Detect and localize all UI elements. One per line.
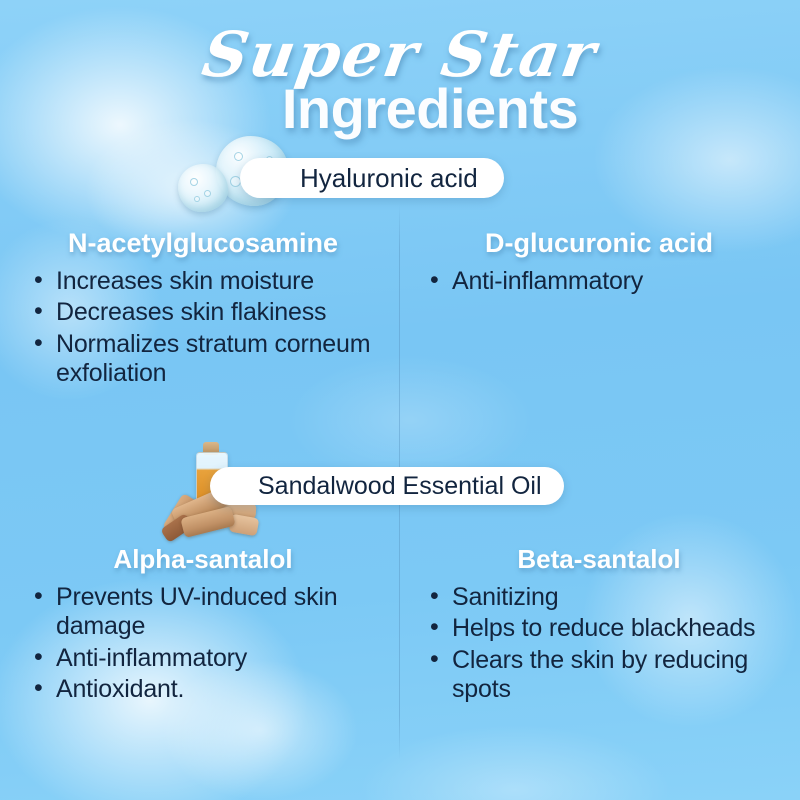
list-item: Antioxidant. [32, 675, 388, 704]
list-item: Anti-inflammatory [32, 644, 388, 673]
benefit-list: Anti-inflammatory [414, 267, 784, 296]
column-heading: D-glucuronic acid [414, 228, 784, 259]
column-beta-santalol: Beta-santalol Sanitizing Helps to reduce… [414, 544, 784, 706]
list-item: Normalizes stratum corneum exfoliation [32, 330, 388, 389]
benefit-list: Increases skin moisture Decreases skin f… [18, 267, 388, 388]
list-item: Clears the skin by reducing spots [428, 646, 784, 705]
list-item: Increases skin moisture [32, 267, 388, 296]
ingredient-badge-label: Hyaluronic acid [300, 163, 478, 194]
column-heading: Alpha-santalol [18, 544, 388, 575]
column-heading: Beta-santalol [414, 544, 784, 575]
column-n-acetylglucosamine: N-acetylglucosamine Increases skin moist… [18, 228, 388, 390]
list-item: Helps to reduce blackheads [428, 614, 784, 643]
ingredient-badge-hyaluronic-acid[interactable]: Hyaluronic acid [240, 158, 504, 198]
page-title: Ingredients [0, 76, 800, 141]
column-d-glucuronic-acid: D-glucuronic acid Anti-inflammatory [414, 228, 784, 298]
list-item: Anti-inflammatory [428, 267, 784, 296]
title-main-text: Ingredients [282, 76, 578, 141]
benefit-list: Sanitizing Helps to reduce blackheads Cl… [414, 583, 784, 704]
column-alpha-santalol: Alpha-santalol Prevents UV-induced skin … [18, 544, 388, 706]
ingredients-infographic: Super Star Ingredients Hyaluronic acid N… [0, 0, 800, 800]
benefit-list: Prevents UV-induced skin damage Anti-inf… [18, 583, 388, 704]
list-item: Decreases skin flakiness [32, 298, 388, 327]
list-item: Sanitizing [428, 583, 784, 612]
list-item: Prevents UV-induced skin damage [32, 583, 388, 642]
gel-droplet-small [178, 164, 228, 212]
ingredient-badge-sandalwood-essential-oil[interactable]: Sandalwood Essential Oil [210, 467, 564, 505]
ingredient-badge-label: Sandalwood Essential Oil [258, 472, 542, 501]
column-heading: N-acetylglucosamine [18, 228, 388, 259]
